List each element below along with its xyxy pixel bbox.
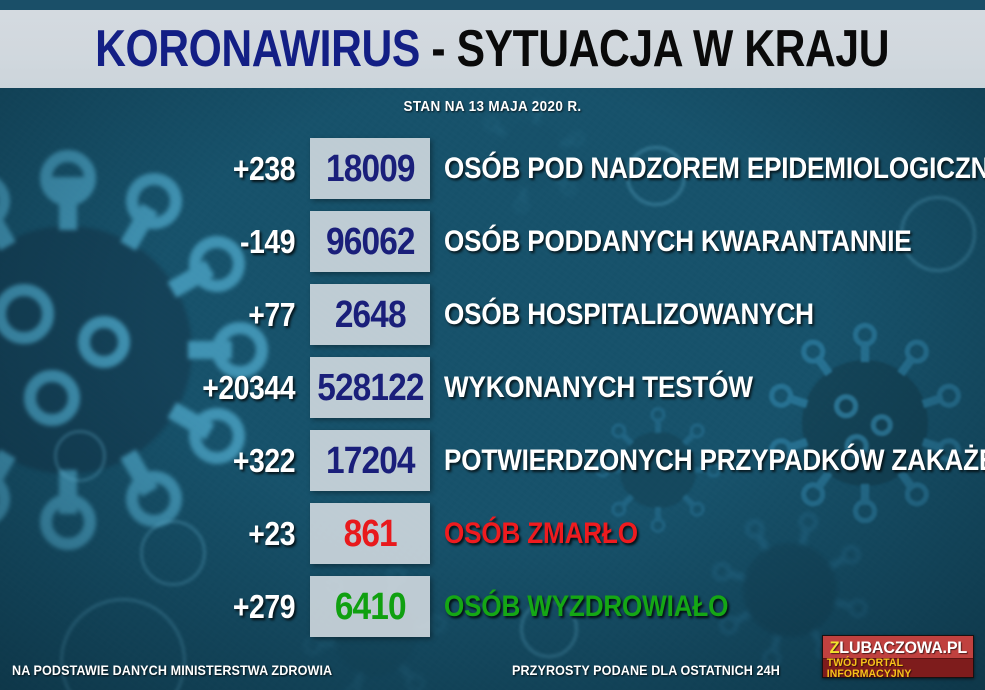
stat-label: WYKONANYCH TESTÓW <box>444 371 753 405</box>
logo-brand-initial: Z <box>829 638 839 657</box>
stat-value: 96062 <box>326 223 415 261</box>
stat-value: 528122 <box>317 369 423 407</box>
stats-list: +238 18009 OSÓB POD NADZOREM EPIDEMIOLOG… <box>0 132 985 643</box>
page-title-rest: - SYTUACJA W KRAJU <box>420 20 889 78</box>
stat-row-hospitalized: +77 2648 OSÓB HOSPITALIZOWANYCH <box>0 278 985 351</box>
stat-value-box: 96062 <box>310 211 430 272</box>
stat-label: OSÓB WYZDROWIAŁO <box>444 590 728 624</box>
stat-value-box: 6410 <box>310 576 430 637</box>
stat-delta: +20344 <box>42 369 302 407</box>
stat-delta: +77 <box>42 296 302 334</box>
stat-label: OSÓB PODDANYCH KWARANTANNIE <box>444 225 912 259</box>
stat-value: 861 <box>343 515 396 553</box>
stat-delta: +279 <box>42 588 302 626</box>
stat-row-deaths: +23 861 OSÓB ZMARŁO <box>0 497 985 570</box>
logo-brand-text: ZLUBACZOWA.PL <box>829 639 966 656</box>
stat-value-box: 528122 <box>310 357 430 418</box>
publisher-logo[interactable]: ZLUBACZOWA.PL TWÓJ PORTAL INFORMACYJNY <box>822 635 974 678</box>
header-band: KORONAWIRUS - SYTUACJA W KRAJU <box>0 10 985 88</box>
stat-value: 18009 <box>326 150 415 188</box>
stat-row-tests: +20344 528122 WYKONANYCH TESTÓW <box>0 351 985 424</box>
stat-value-box: 17204 <box>310 430 430 491</box>
stat-value-box: 2648 <box>310 284 430 345</box>
top-strip <box>0 0 985 10</box>
footer-period-note: PRZYROSTY PODANE DLA OSTATNICH 24H <box>512 662 780 678</box>
coronavirus-infographic: KORONAWIRUS - SYTUACJA W KRAJU STAN NA 1… <box>0 0 985 690</box>
stat-value: 6410 <box>335 588 406 626</box>
stat-label: OSÓB ZMARŁO <box>444 517 638 551</box>
stat-value: 17204 <box>326 442 415 480</box>
page-title-highlight: KORONAWIRUS <box>96 20 421 78</box>
stat-value-box: 861 <box>310 503 430 564</box>
stat-row-recovered: +279 6410 OSÓB WYZDROWIAŁO <box>0 570 985 643</box>
logo-tagline: TWÓJ PORTAL INFORMACYJNY <box>827 658 970 679</box>
report-date-subtitle: STAN NA 13 MAJA 2020 R. <box>49 98 936 115</box>
stat-delta: -149 <box>42 223 302 261</box>
stat-label: OSÓB POD NADZOREM EPIDEMIOLOGICZNYM <box>444 152 985 186</box>
stat-delta: +23 <box>42 515 302 553</box>
logo-tagline-bar: TWÓJ PORTAL INFORMACYJNY <box>823 659 973 678</box>
footer-source-note: NA PODSTAWIE DANYCH MINISTERSTWA ZDROWIA <box>12 662 332 678</box>
stat-label: POTWIERDZONYCH PRZYPADKÓW ZAKAŻENIA <box>444 444 985 478</box>
stat-delta: +322 <box>42 442 302 480</box>
stat-delta: +238 <box>42 150 302 188</box>
stat-value: 2648 <box>335 296 406 334</box>
stat-label: OSÓB HOSPITALIZOWANYCH <box>444 298 814 332</box>
stat-row-surveillance: +238 18009 OSÓB POD NADZOREM EPIDEMIOLOG… <box>0 132 985 205</box>
stat-row-quarantine: -149 96062 OSÓB PODDANYCH KWARANTANNIE <box>0 205 985 278</box>
stat-row-confirmed: +322 17204 POTWIERDZONYCH PRZYPADKÓW ZAK… <box>0 424 985 497</box>
page-title: KORONAWIRUS - SYTUACJA W KRAJU <box>96 23 890 75</box>
stat-value-box: 18009 <box>310 138 430 199</box>
logo-brand-rest: LUBACZOWA.PL <box>839 638 967 657</box>
